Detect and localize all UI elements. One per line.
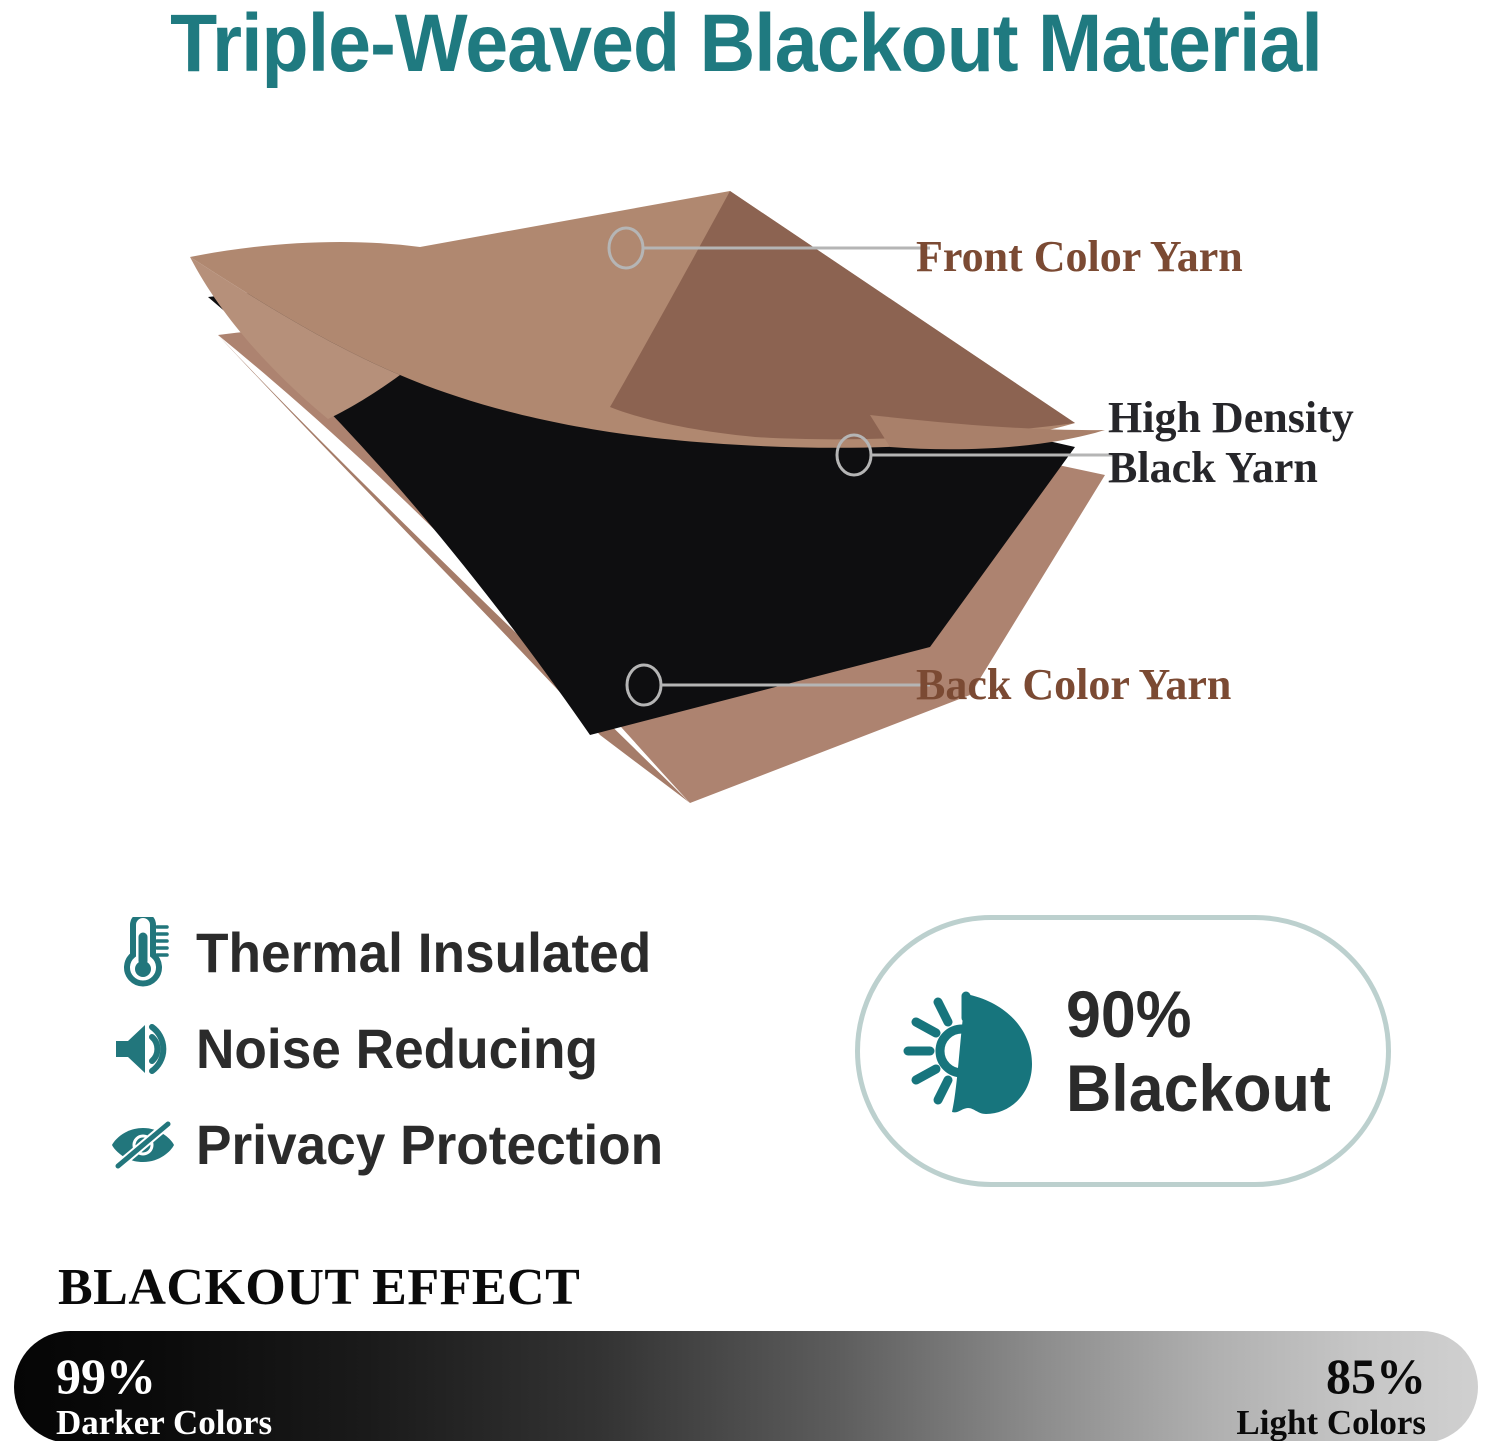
feature-label-privacy-protection: Privacy Protection [196,1115,663,1175]
darker-colors-percent: 99% [56,1349,272,1403]
callout-label-front-color-yarn: Front Color Yarn [916,230,1243,284]
speaker-sound-icon [104,1009,182,1089]
light-colors-note: Light Colors [1236,1403,1426,1441]
page-title: Triple-Weaved Blackout Material [45,0,1447,92]
blackout-effect-gradient-bar: 99% Darker Colors 85% Light Colors [14,1331,1478,1441]
callout-label-back-color-yarn: Back Color Yarn [916,658,1231,712]
badge-text-block: 90% Blackout [1066,977,1331,1125]
darker-colors-note: Darker Colors [56,1403,272,1441]
badge-word: Blackout [1066,1051,1331,1125]
feature-item-thermal-insulated: Thermal Insulated [104,905,804,1001]
callout-label-high-density-black-yarn: High Density Black Yarn [1108,393,1354,493]
blackout-percentage-badge: 90% Blackout [855,915,1391,1187]
badge-percent: 90% [1066,977,1331,1051]
light-colors-percent: 85% [1236,1349,1426,1403]
callout-black-line-1: High Density [1108,393,1354,442]
gradient-bar-left-stat: 99% Darker Colors [56,1349,272,1441]
feature-item-noise-reducing: Noise Reducing [104,1001,804,1097]
blackout-effect-heading: BLACKOUT EFFECT [58,1258,580,1318]
sun-blocked-icon [894,976,1044,1126]
feature-item-privacy-protection: Privacy Protection [104,1097,804,1193]
eye-slash-icon [104,1105,182,1185]
feature-label-noise-reducing: Noise Reducing [196,1019,598,1079]
feature-list: Thermal Insulated Noise Reducing [104,905,804,1193]
callout-black-line-2: Black Yarn [1108,443,1354,493]
feature-label-thermal-insulated: Thermal Insulated [196,923,651,983]
thermometer-icon [104,913,182,993]
gradient-bar-right-stat: 85% Light Colors [1236,1349,1426,1441]
infographic-page: Triple-Weaved Blackout Material [0,0,1492,1441]
